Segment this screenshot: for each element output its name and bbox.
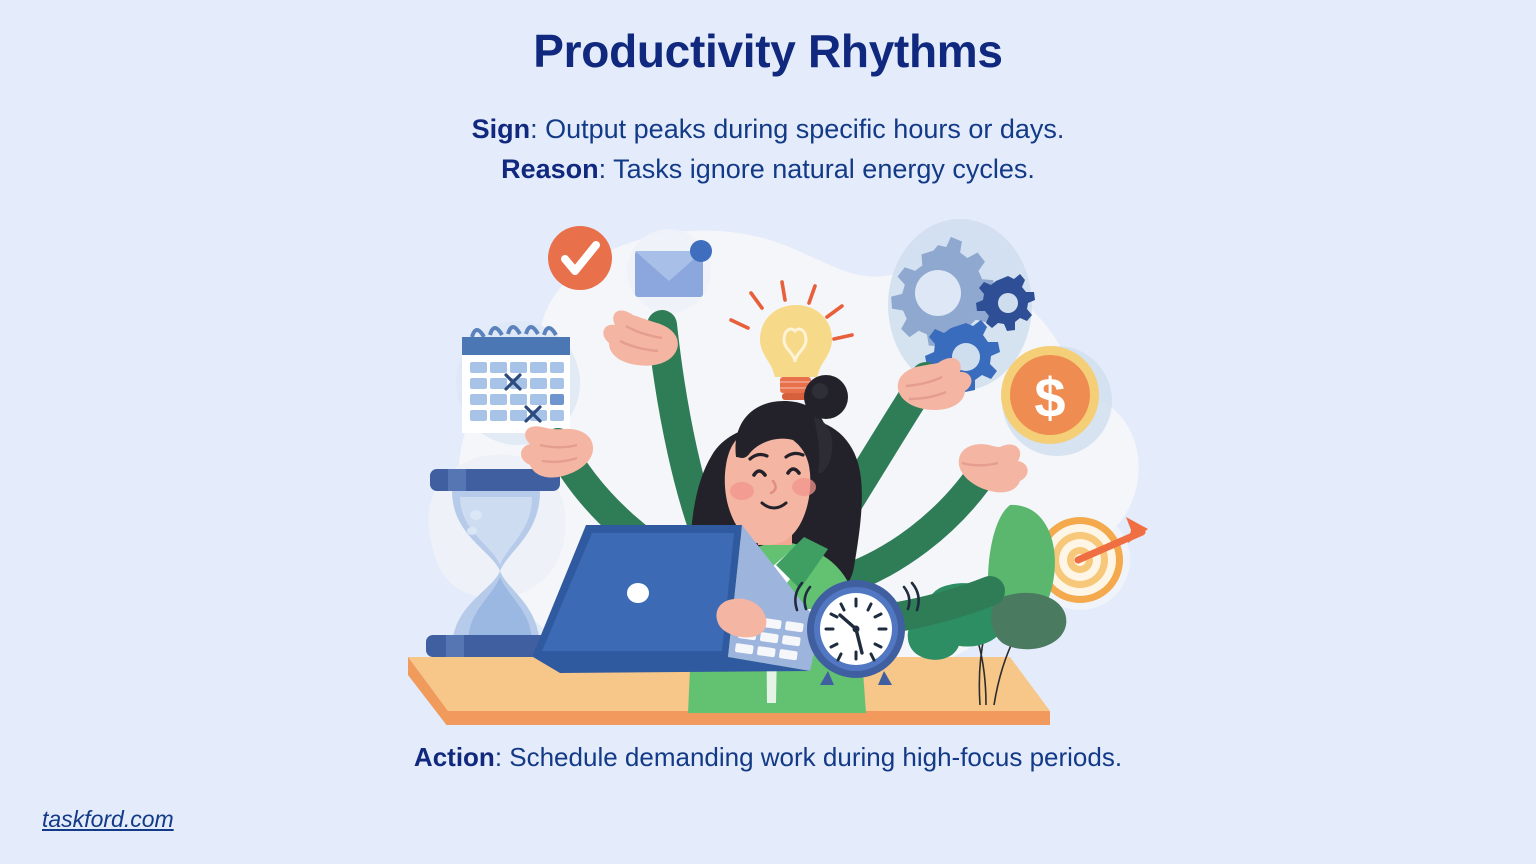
reason-line: Reason: Tasks ignore natural energy cycl… [0, 150, 1536, 190]
poster-canvas: Productivity Rhythms Sign: Output peaks … [0, 0, 1536, 864]
sign-text: : Output peaks during specific hours or … [530, 114, 1064, 144]
page-title: Productivity Rhythms [0, 24, 1536, 78]
subtitle-block: Sign: Output peaks during specific hours… [0, 110, 1536, 190]
reason-label: Reason [501, 154, 599, 184]
action-label: Action [414, 742, 495, 772]
illustration: $ [390, 205, 1150, 725]
action-text: : Schedule demanding work during high-fo… [495, 742, 1122, 772]
action-line: Action: Schedule demanding work during h… [0, 742, 1536, 773]
footer-website-link[interactable]: taskford.com [42, 806, 174, 833]
reason-text: : Tasks ignore natural energy cycles. [599, 154, 1035, 184]
calendar-icon [456, 321, 580, 445]
sign-label: Sign [472, 114, 531, 144]
sign-line: Sign: Output peaks during specific hours… [0, 110, 1536, 150]
svg-text:$: $ [1034, 366, 1065, 429]
check-circle-icon [548, 226, 612, 290]
